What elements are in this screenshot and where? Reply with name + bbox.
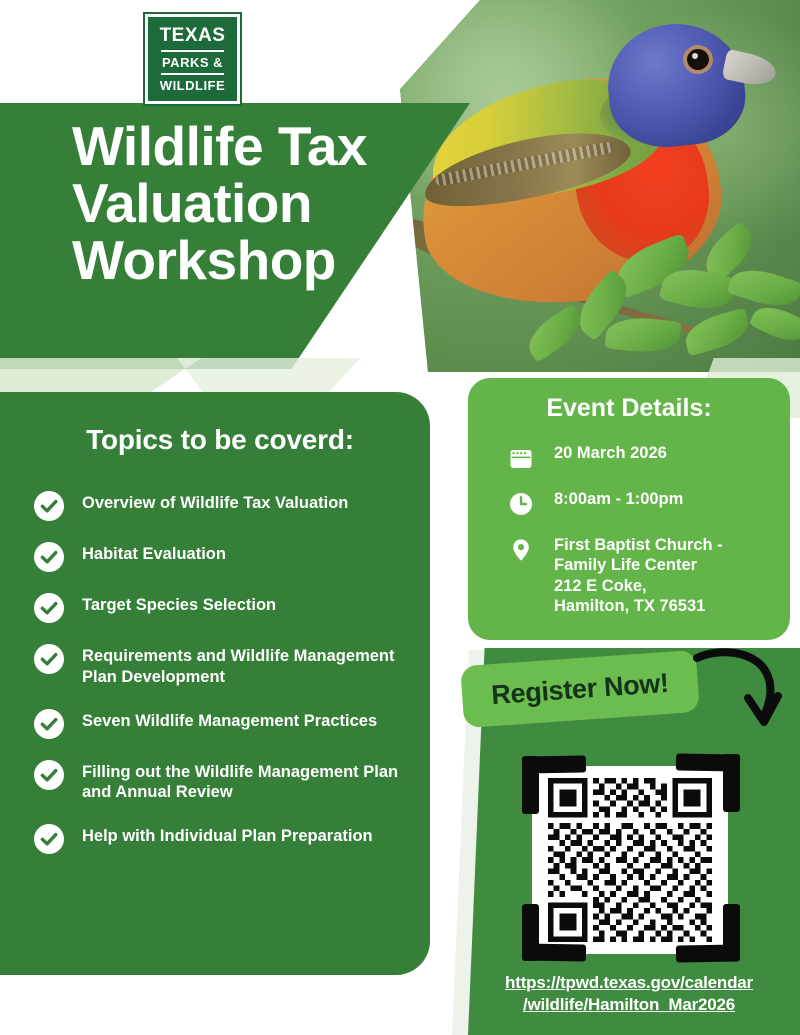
logo-line-texas: TEXAS [160,26,226,48]
register-now-label: Register Now! [490,667,669,710]
topic-item: Seven Wildlife Management Practices [34,708,406,739]
page-title: Wildlife Tax Valuation Workshop [72,118,472,290]
topic-item: Requirements and Wildlife Management Pla… [34,643,406,688]
topic-item: Help with Individual Plan Preparation [34,823,406,854]
event-location: First Baptist Church - Family Life Cente… [554,535,723,617]
topic-label: Habitat Evaluation [82,541,226,565]
qr-code-matrix [544,778,716,942]
location-pin-icon [508,537,534,563]
topic-label: Target Species Selection [82,592,276,616]
tpwd-logo: TEXAS PARKS & WILDLIFE [145,14,240,104]
event-time: 8:00am - 1:00pm [554,489,683,509]
check-circle-icon [34,709,64,739]
topic-item: Habitat Evaluation [34,541,406,572]
check-circle-icon [34,760,64,790]
event-details-card: Event Details: 20 March 2026 [468,378,790,640]
qr-bracket-bottom-left [522,904,539,961]
topic-item: Filling out the Wildlife Management Plan… [34,759,406,804]
topics-card: Topics to be coverd: Overview of Wildlif… [0,392,430,975]
topic-item: Target Species Selection [34,592,406,623]
check-circle-icon [34,593,64,623]
clock-icon [508,491,534,517]
check-circle-icon [34,824,64,854]
event-time-row: 8:00am - 1:00pm [486,489,772,517]
calendar-icon [508,445,534,471]
logo-divider [161,50,224,52]
topic-item: Overview of Wildlife Tax Valuation [34,490,406,521]
event-details-heading: Event Details: [486,394,772,423]
topic-label: Seven Wildlife Management Practices [82,708,377,732]
event-location-row: First Baptist Church - Family Life Cente… [486,535,772,617]
logo-line-parks: PARKS & [162,54,223,71]
check-circle-icon [34,542,64,572]
topic-label: Filling out the Wildlife Management Plan… [82,759,406,804]
logo-line-wildlife: WILDLIFE [160,77,225,92]
topic-label: Requirements and Wildlife Management Pla… [82,643,406,688]
curved-arrow-icon [692,646,784,738]
check-circle-icon [34,644,64,674]
event-date-row: 20 March 2026 [486,443,772,471]
topics-heading: Topics to be coverd: [34,424,406,456]
logo-divider [161,73,224,75]
qr-bracket-top-right [723,754,740,812]
check-circle-icon [34,491,64,521]
topic-label: Overview of Wildlife Tax Valuation [82,490,348,514]
qr-bracket-top-left [522,756,539,814]
qr-code[interactable] [516,752,744,967]
qr-bracket-bottom-right [723,904,740,961]
topic-label: Help with Individual Plan Preparation [82,823,373,847]
registration-url[interactable]: https://tpwd.texas.gov/calendar /wildlif… [468,972,790,1016]
poster-canvas: Wildlife Tax Valuation Workshop TEXAS PA… [0,0,800,1035]
event-date: 20 March 2026 [554,443,667,463]
bird-eye [687,49,709,70]
